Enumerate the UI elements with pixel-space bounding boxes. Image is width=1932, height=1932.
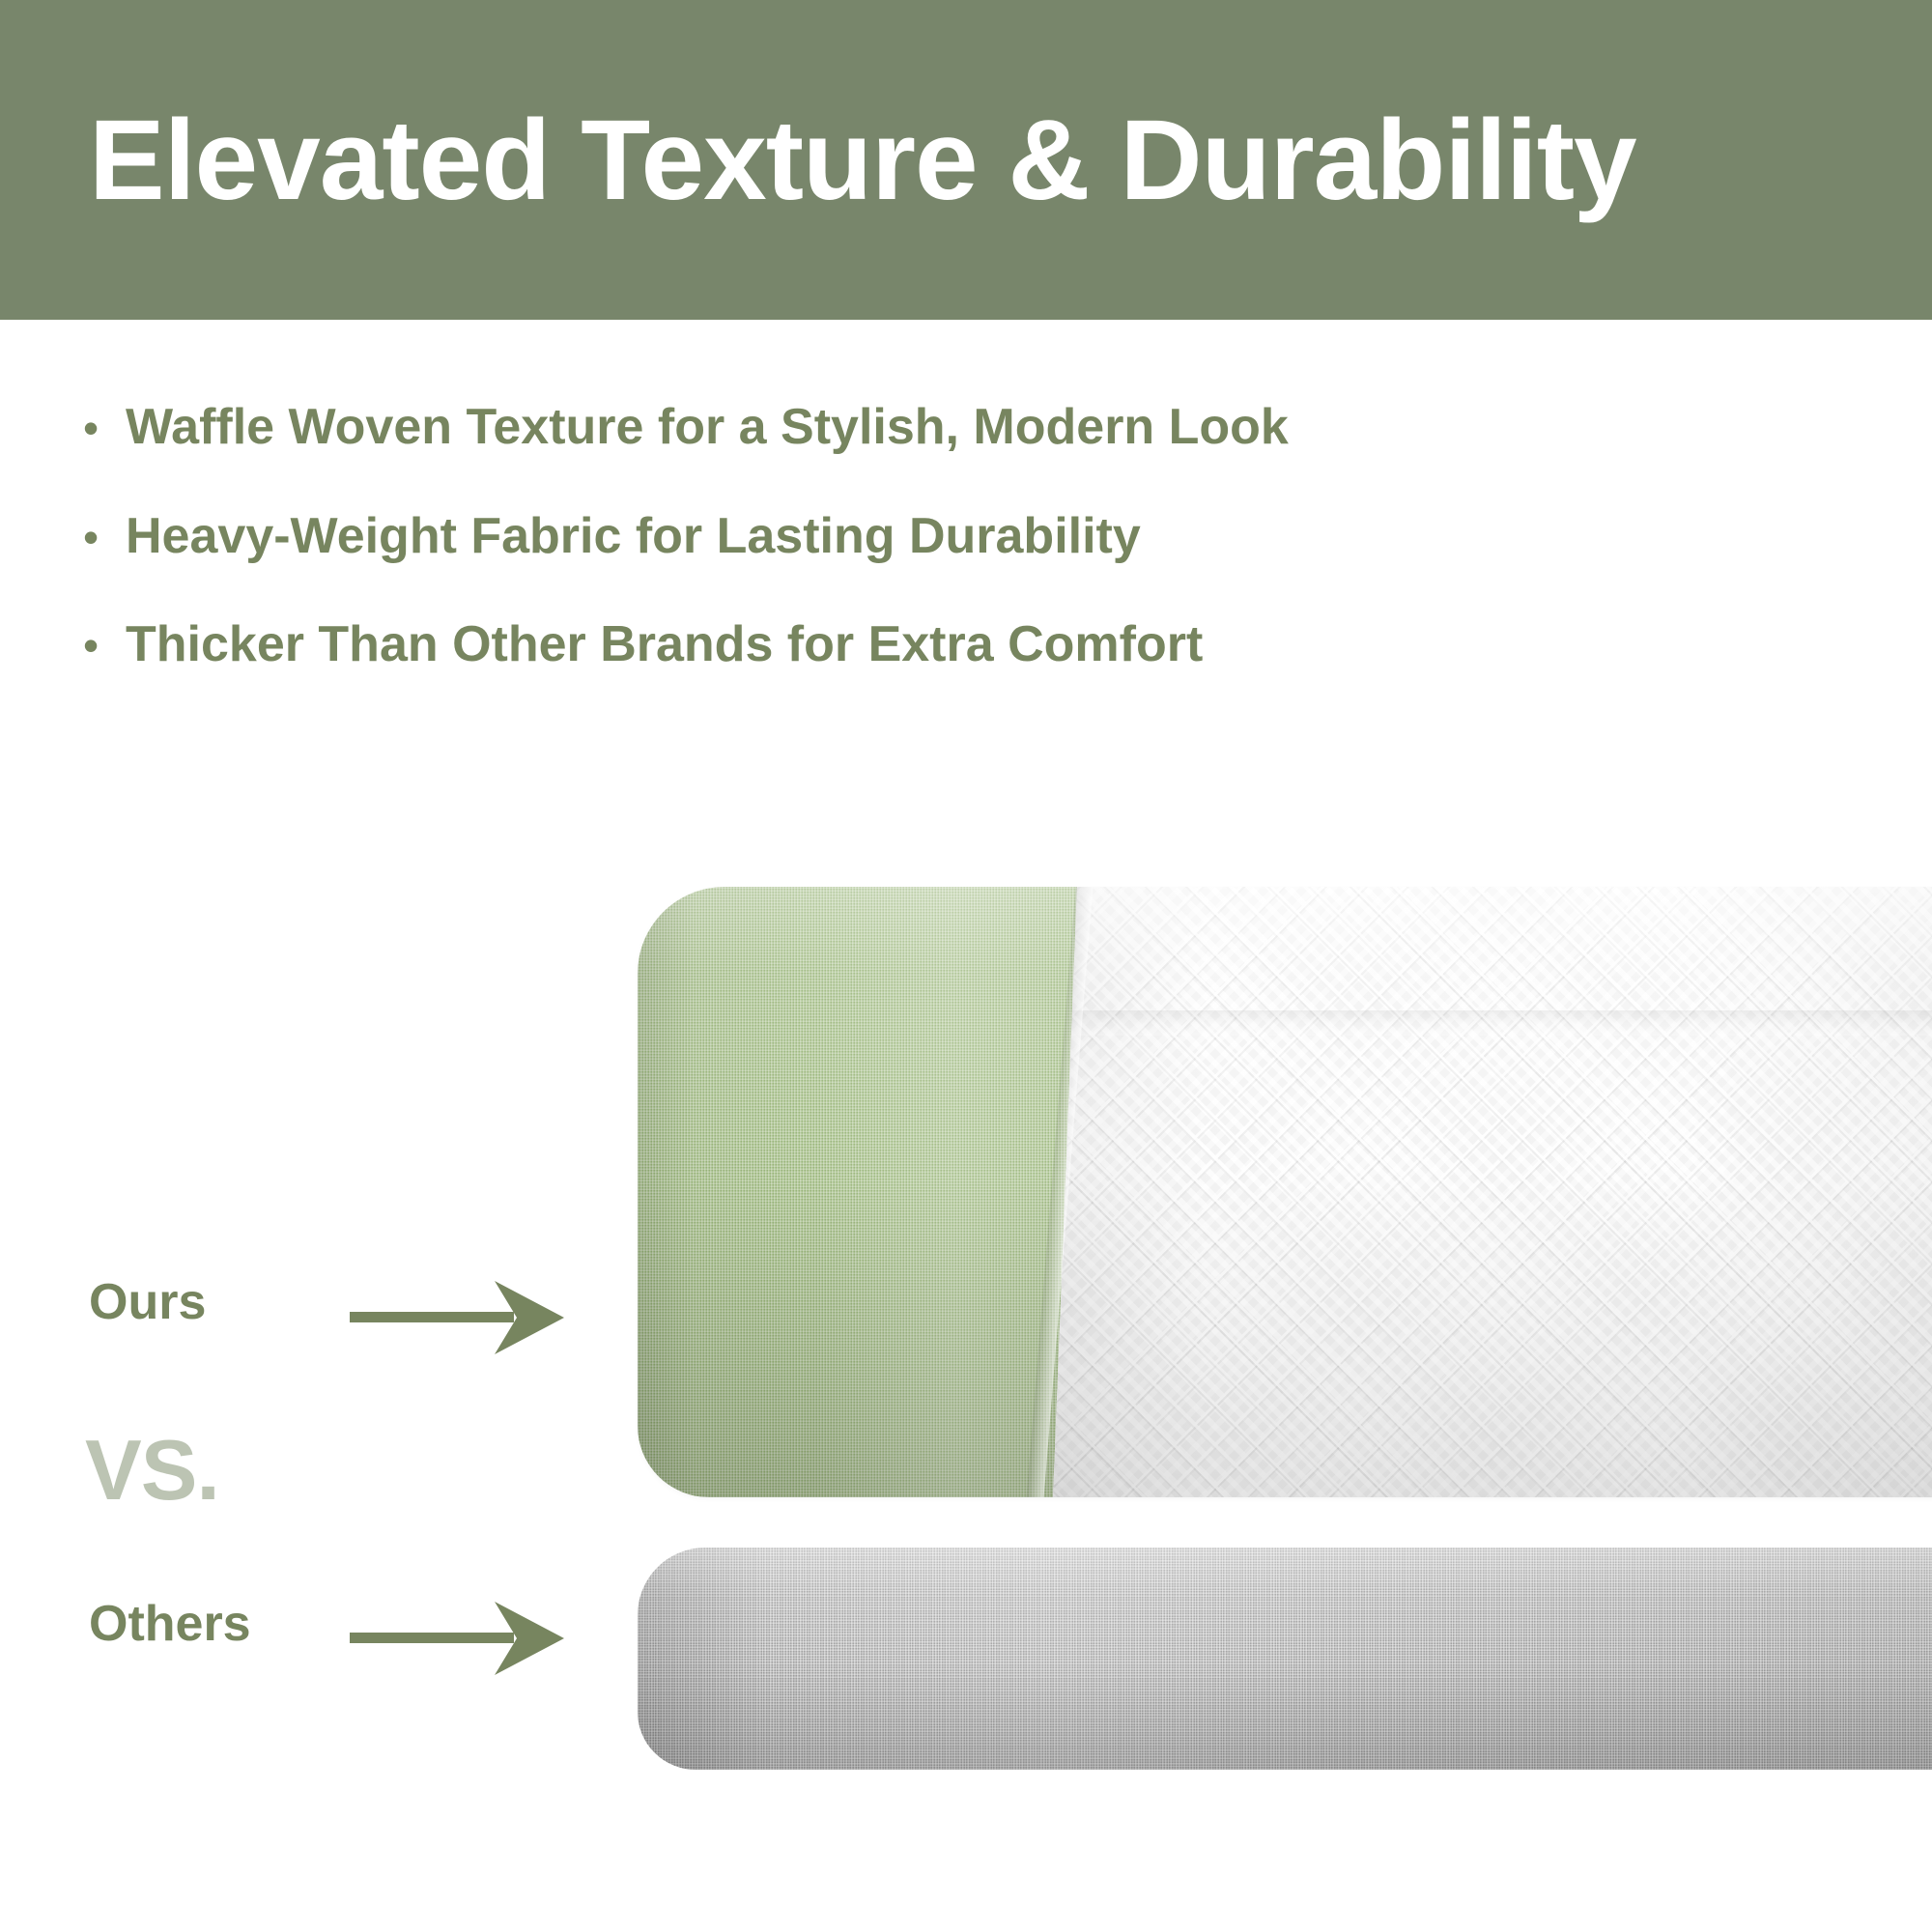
- feature-list: • Waffle Woven Texture for a Stylish, Mo…: [83, 401, 1822, 727]
- ours-label: Ours: [89, 1277, 206, 1327]
- bullet-point-icon: •: [83, 623, 126, 668]
- ours-product-image: [638, 887, 1932, 1497]
- others-label: Others: [89, 1599, 251, 1649]
- list-item: • Thicker Than Other Brands for Extra Co…: [83, 618, 1822, 671]
- versus-label: VS.: [85, 1428, 219, 1513]
- others-arrow-icon: [350, 1594, 564, 1683]
- page-title: Elevated Texture & Durability: [89, 103, 1636, 217]
- others-product-image: [638, 1548, 1932, 1770]
- ours-arrow-icon: [350, 1273, 564, 1362]
- feature-text: Thicker Than Other Brands for Extra Comf…: [126, 618, 1203, 671]
- infographic-canvas: Elevated Texture & Durability • Waffle W…: [0, 0, 1932, 1932]
- gray-plain-fabric: [638, 1548, 1932, 1770]
- list-item: • Heavy-Weight Fabric for Lasting Durabi…: [83, 510, 1822, 563]
- header-banner: Elevated Texture & Durability: [0, 0, 1932, 320]
- bullet-point-icon: •: [83, 406, 126, 450]
- fabric-fold-crease: [1053, 1010, 1932, 1036]
- bullet-point-icon: •: [83, 515, 126, 559]
- white-waffle-fabric: [1053, 887, 1932, 1497]
- fabric-shading: [1053, 887, 1932, 1497]
- list-item: • Waffle Woven Texture for a Stylish, Mo…: [83, 401, 1822, 454]
- feature-text: Waffle Woven Texture for a Stylish, Mode…: [126, 401, 1289, 454]
- feature-text: Heavy-Weight Fabric for Lasting Durabili…: [126, 510, 1141, 563]
